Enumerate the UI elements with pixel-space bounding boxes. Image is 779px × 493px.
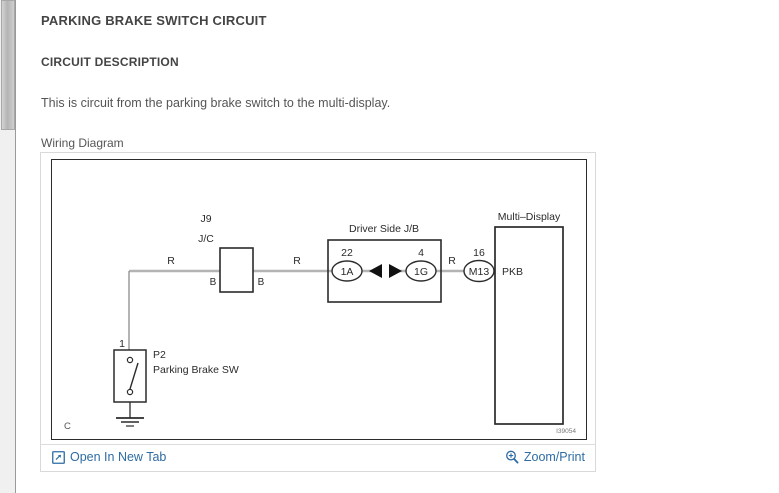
wiring-diagram-graphic: J9 J/C B B R R R Driver Side J/B 22 1A — [52, 160, 586, 439]
switch-upper-contact — [127, 357, 132, 362]
section-heading-circuit-description: CIRCUIT DESCRIPTION — [41, 55, 179, 69]
switch-name-label: Parking Brake SW — [153, 364, 239, 376]
circuit-description-text: This is circuit from the parking brake s… — [41, 96, 390, 110]
jc-right-wire-color-label: B — [258, 277, 265, 288]
jb-right-arrow-icon — [389, 264, 402, 278]
jc-ref-label: J9 — [200, 213, 211, 225]
jb-title-label: Driver Side J/B — [349, 223, 419, 235]
open-in-new-window-icon — [52, 451, 65, 464]
multi-display-pin-number: 16 — [473, 247, 485, 259]
jb-left-arrow-icon — [369, 264, 382, 278]
jb-right-connector-label: 1G — [414, 266, 428, 278]
jc-type-label: J/C — [198, 233, 214, 245]
open-in-new-tab-button[interactable]: Open In New Tab — [52, 450, 166, 464]
zoom-print-label: Zoom/Print — [524, 450, 585, 464]
magnifier-plus-icon — [505, 450, 519, 464]
diagram-corner-label: C — [64, 421, 71, 432]
diagram-figure-id: I39054 — [556, 428, 576, 435]
jb-left-pin-number: 22 — [341, 247, 353, 259]
zoom-print-button[interactable]: Zoom/Print — [505, 450, 585, 464]
multi-display-title-label: Multi–Display — [498, 211, 561, 223]
switch-lower-contact — [127, 389, 132, 394]
jc-left-wire-color-label: B — [210, 277, 217, 288]
open-in-new-tab-label: Open In New Tab — [70, 450, 166, 464]
multi-display-signal-label: PKB — [502, 266, 523, 278]
wiring-diagram-frame[interactable]: J9 J/C B B R R R Driver Side J/B 22 1A — [51, 159, 587, 440]
document-content: PARKING BRAKE SWITCH CIRCUIT CIRCUIT DES… — [17, 0, 779, 493]
wire-label-r-1: R — [167, 255, 175, 267]
switch-ref-label: P2 — [153, 349, 166, 361]
window-scrollbar-track[interactable] — [0, 0, 16, 493]
wire-label-r-3: R — [448, 255, 456, 267]
window-scrollbar-thumb[interactable] — [1, 0, 15, 130]
multi-display-connector-label: M13 — [469, 266, 490, 278]
wiring-diagram-panel: J9 J/C B B R R R Driver Side J/B 22 1A — [40, 152, 596, 472]
jc-box — [220, 248, 253, 292]
page-title: PARKING BRAKE SWITCH CIRCUIT — [41, 13, 267, 28]
jb-right-pin-number: 4 — [418, 247, 424, 259]
jb-left-connector-label: 1A — [341, 266, 354, 278]
figure-caption: Wiring Diagram — [41, 136, 124, 150]
switch-terminal-number: 1 — [119, 338, 125, 350]
wire-label-r-2: R — [293, 255, 301, 267]
figure-toolbar: Open In New Tab Zoom/Print — [41, 444, 595, 471]
multi-display-box — [495, 227, 563, 424]
